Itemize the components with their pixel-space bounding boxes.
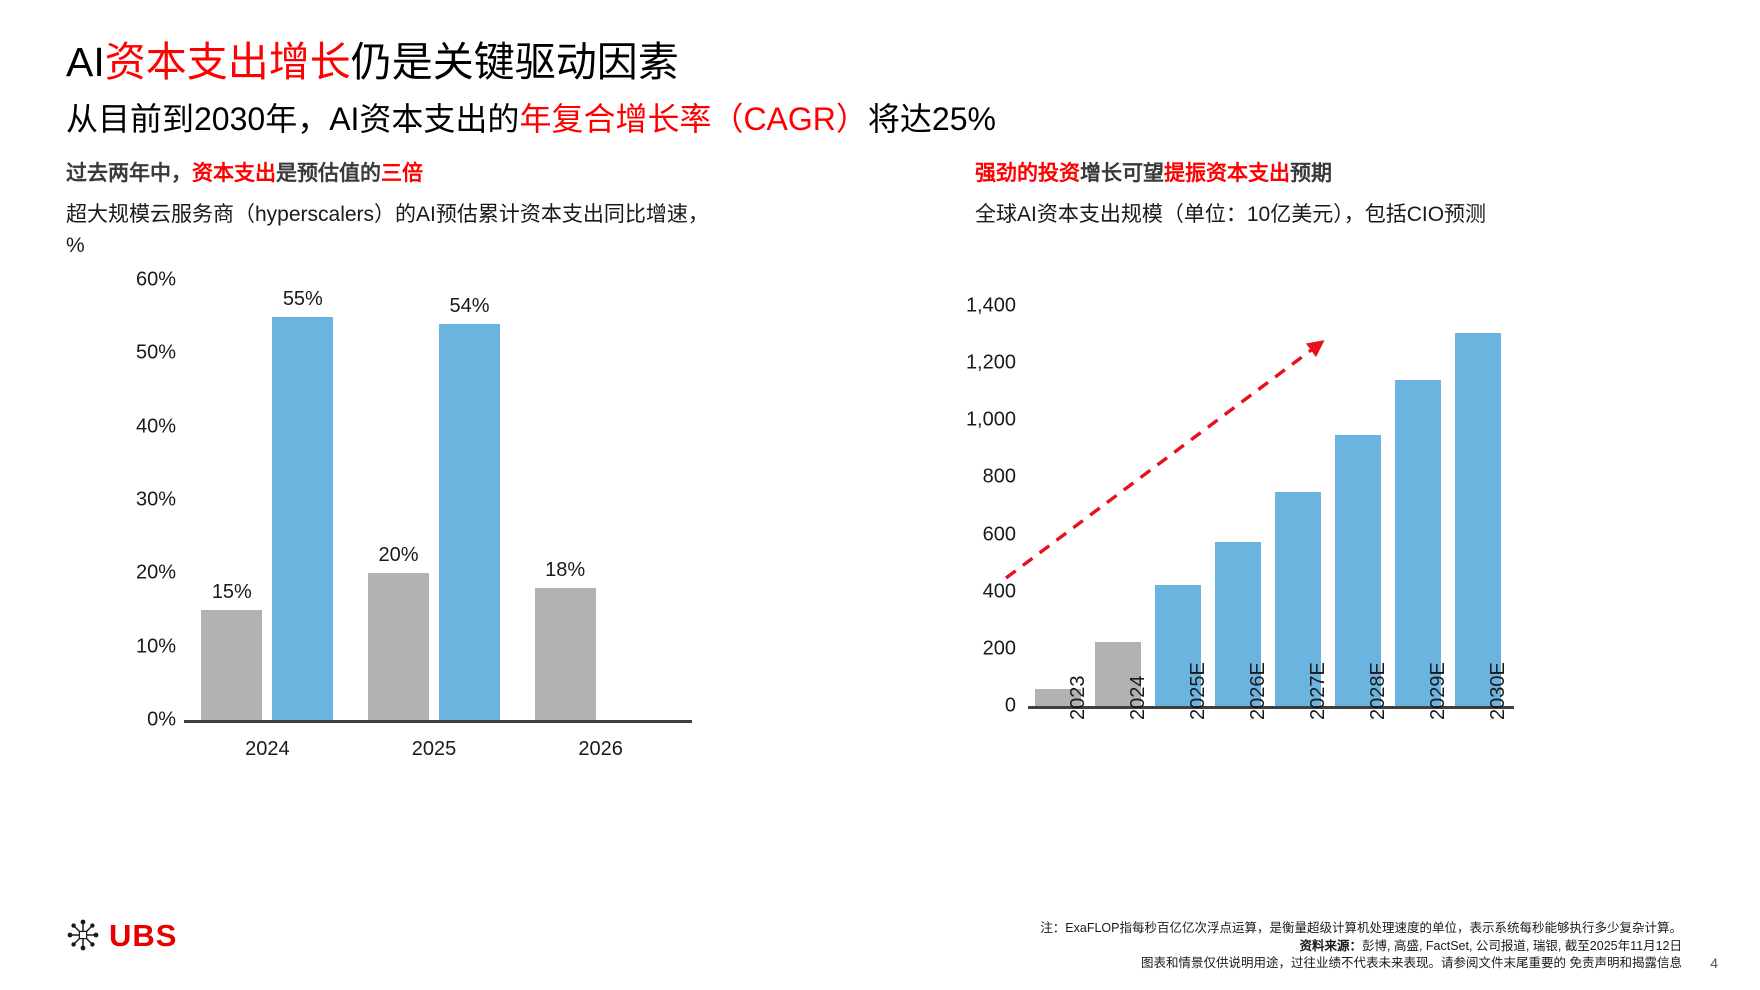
chart-hyperscaler-capex-growth: 0%10%20%30%40%50%60%15%55%202420%54%2025… <box>66 262 726 772</box>
footnote-label: 注： <box>1040 921 1065 935</box>
bar <box>368 573 429 720</box>
footnote-label: 资料来源： <box>1299 939 1362 953</box>
footnote-line: 图表和情景仅供说明用途，过往业绩不代表未来表现。请参阅文件末尾重要的 免责声明和… <box>952 955 1682 973</box>
footnote-text: 彭博, 高盛, FactSet, 公司报道, 瑞银, 截至2025年11月12日 <box>1362 939 1682 953</box>
ubs-wordmark: UBS <box>109 920 177 951</box>
subtitle-run-0: 从目前到2030年，AI资本支出的 <box>66 101 519 137</box>
y-axis-tick-label: 800 <box>912 466 1016 489</box>
left-header-run-3: 三倍 <box>381 162 423 185</box>
y-axis-tick-label: 400 <box>912 580 1016 603</box>
x-axis-line <box>184 720 692 723</box>
right-header-run-1: 增长可望 <box>1080 162 1164 185</box>
right-header-run-0: 强劲的投资 <box>975 162 1080 185</box>
y-axis-tick-label: 20% <box>80 562 176 585</box>
title-run-2: 仍是关键驱动因素 <box>351 39 679 85</box>
y-axis-tick-label: 50% <box>80 342 176 365</box>
left-panel-subheader: 超大规模云服务商（hyperscalers）的AI预估累计资本支出同比增速，% <box>66 199 716 261</box>
x-axis-category-label: 2024 <box>184 738 351 761</box>
bar <box>439 324 500 720</box>
subtitle-run-1: 年复合增长率（CAGR） <box>519 101 867 137</box>
page-title: AI资本支出增长仍是关键驱动因素 <box>66 36 679 88</box>
footnote-line: 注：ExaFLOP指每秒百亿亿次浮点运算，是衡量超级计算机处理速度的单位，表示系… <box>952 920 1682 938</box>
left-header-run-2: 是预估值的 <box>276 162 381 185</box>
bar <box>201 610 262 720</box>
y-axis-tick-label: 600 <box>912 523 1016 546</box>
x-axis-category-label: 2025E <box>1187 662 1210 720</box>
left-header-run-0: 过去两年中， <box>66 162 192 185</box>
bar-value-label: 18% <box>523 559 608 582</box>
slide-root: AI资本支出增长仍是关键驱动因素 从目前到2030年，AI资本支出的年复合增长率… <box>0 0 1760 990</box>
page-number: 4 <box>1710 955 1718 971</box>
chart-global-ai-capex: 02004006008001,0001,2001,400202320242025… <box>900 280 1520 780</box>
bar <box>272 317 333 720</box>
x-axis-category-label: 2028E <box>1367 662 1390 720</box>
y-axis-tick-label: 0 <box>912 695 1016 718</box>
left-panel-header: 过去两年中，资本支出是预估值的三倍 <box>66 160 423 188</box>
x-axis-category-label: 2026 <box>517 738 684 761</box>
bar <box>535 588 596 720</box>
left-header-run-1: 资本支出 <box>192 162 276 185</box>
y-axis-tick-label: 30% <box>80 489 176 512</box>
bar-value-label: 54% <box>427 295 512 318</box>
bar-value-label: 15% <box>189 581 274 604</box>
plot-area-right <box>1028 306 1508 706</box>
bar <box>1455 333 1501 706</box>
subtitle-run-2: 将达25% <box>868 101 996 137</box>
bar-value-label: 20% <box>356 544 441 567</box>
ubs-logo: UBS <box>66 918 177 952</box>
plot-area-left <box>184 280 684 720</box>
x-axis-category-label: 2025 <box>351 738 518 761</box>
footnote-line: 资料来源：彭博, 高盛, FactSet, 公司报道, 瑞银, 截至2025年1… <box>952 938 1682 956</box>
x-axis-category-label: 2027E <box>1307 662 1330 720</box>
footnotes: 注：ExaFLOP指每秒百亿亿次浮点运算，是衡量超级计算机处理速度的单位，表示系… <box>952 920 1682 973</box>
x-axis-category-label: 2030E <box>1487 662 1510 720</box>
y-axis-tick-label: 1,200 <box>912 352 1016 375</box>
y-axis-tick-label: 40% <box>80 415 176 438</box>
y-axis-tick-label: 0% <box>80 709 176 732</box>
right-header-run-3: 预期 <box>1290 162 1332 185</box>
y-axis-tick-label: 60% <box>80 269 176 292</box>
x-axis-category-label: 2029E <box>1427 662 1450 720</box>
right-panel-subheader: 全球AI资本支出规模（单位：10亿美元），包括CIO预测 <box>975 199 1615 230</box>
title-run-1: 资本支出增长 <box>105 39 351 85</box>
y-axis-tick-label: 1,400 <box>912 295 1016 318</box>
right-header-run-2: 提振资本支出 <box>1164 162 1290 185</box>
y-axis-tick-label: 10% <box>80 635 176 658</box>
right-panel-header: 强劲的投资增长可望提振资本支出预期 <box>975 160 1332 188</box>
page-subtitle: 从目前到2030年，AI资本支出的年复合增长率（CAGR）将达25% <box>66 98 996 140</box>
y-axis-tick-label: 200 <box>912 637 1016 660</box>
y-axis-tick-label: 1,000 <box>912 409 1016 432</box>
footnote-text: ExaFLOP指每秒百亿亿次浮点运算，是衡量超级计算机处理速度的单位，表示系统每… <box>1065 921 1682 935</box>
x-axis-category-label: 2023 <box>1067 676 1090 721</box>
ubs-keys-icon <box>66 918 100 952</box>
title-run-0: AI <box>66 39 105 85</box>
x-axis-category-label: 2026E <box>1247 662 1270 720</box>
bar-value-label: 55% <box>260 288 345 311</box>
x-axis-category-label: 2024 <box>1127 676 1150 721</box>
footnote-text: 图表和情景仅供说明用途，过往业绩不代表未来表现。请参阅文件末尾重要的 免责声明和… <box>1141 956 1682 970</box>
bar <box>1395 380 1441 706</box>
